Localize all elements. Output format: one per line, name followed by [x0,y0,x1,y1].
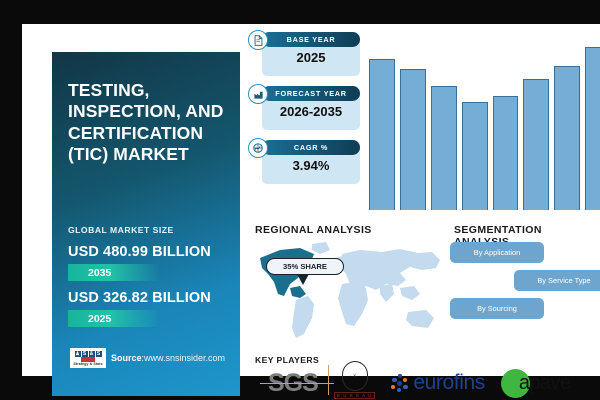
chart-bar [431,86,457,210]
base-year-chip: 2025 [68,310,160,327]
chart-bar [400,69,426,210]
apave-wordmark: apave [519,372,571,395]
metric-label-cagr: CAGR % [262,140,360,155]
metric-card-cagr: CAGR % 3.94% [248,140,360,184]
global-market-size-label: GLOBAL MARKET SIZE [68,225,224,235]
factory-icon [248,84,268,104]
key-players-logos: SGS ⚔ B U R E A U VERITAS eurofins [268,364,600,400]
share-badge-pointer [297,274,309,285]
metric-value-cagr: 3.94% [262,158,360,173]
source-prefix: Source [111,353,142,363]
document-icon [248,30,268,50]
segmentation-boxes: By ApplicationBy Service TypeBy Sourcing [450,242,600,328]
bureau-veritas-line1: B U R E A U [334,392,376,399]
chart-bar [369,59,395,210]
market-growth-bar-chart [369,38,600,210]
page-title: TESTING, INSPECTION, AND CERTIFICATION (… [68,80,224,165]
segment-pill[interactable]: By Application [450,242,544,263]
left-summary-panel: TESTING, INSPECTION, AND CERTIFICATION (… [52,52,240,396]
region-share-badge: 35% SHARE [266,258,344,275]
growth-globe-icon [248,138,268,158]
logo-letter-s2: S [96,351,102,357]
source-text: Source:www.snsinsider.com [111,353,225,363]
metric-card-base-year: BASE YEAR 2025 [248,32,360,76]
base-market-value: USD 326.82 BILLION [68,290,224,306]
bureau-veritas-seal-icon: ⚔ [342,361,368,391]
forecast-market-value: USD 480.99 BILLION [68,244,224,260]
logo-apave: apave [501,369,571,398]
metric-value-base-year: 2025 [262,50,360,65]
logo-bureau-veritas: ⚔ B U R E A U VERITAS [334,361,376,400]
logo-tower-icon: ♟ [75,351,81,357]
map-continents [292,242,440,338]
source-url[interactable]: :www.snsinsider.com [142,353,226,363]
metric-value-forecast-year: 2026-2035 [262,104,360,119]
logo-sgs: SGS [268,369,318,398]
metric-label-forecast-year: FORECAST YEAR [262,86,360,101]
chart-bar [493,96,519,210]
chart-bar [523,79,549,210]
forecast-year-chip: 2035 [68,264,160,281]
metric-cards: BASE YEAR 2025 FORECAST YEAR 2026-2035 [248,32,360,194]
eurofins-dots-icon [391,374,410,393]
infographic-root: TESTING, INSPECTION, AND CERTIFICATION (… [0,0,600,400]
segment-pill[interactable]: By Sourcing [450,298,544,319]
section-title-regional: REGIONAL ANALYSIS [255,224,372,236]
chart-bar [462,102,488,210]
chart-bar [554,66,580,210]
sns-insider-logo: ♟ S & S Strategy & Stats [70,348,106,368]
logo-tagline: Strategy & Stats [73,362,102,366]
chart-bars [369,38,600,210]
infographic-card: TESTING, INSPECTION, AND CERTIFICATION (… [22,24,600,376]
metric-card-forecast-year: FORECAST YEAR 2026-2035 [248,86,360,130]
logo-eurofins: eurofins [391,371,485,395]
world-map-svg [250,240,450,348]
eurofins-wordmark: eurofins [413,371,485,395]
chart-bar [585,47,600,210]
segment-pill[interactable]: By Service Type [514,270,600,291]
world-map: 35% SHARE [250,240,450,348]
source-row: ♟ S & S Strategy & Stats Source:www.snsi… [70,348,225,368]
metric-label-base-year: BASE YEAR [262,32,360,47]
